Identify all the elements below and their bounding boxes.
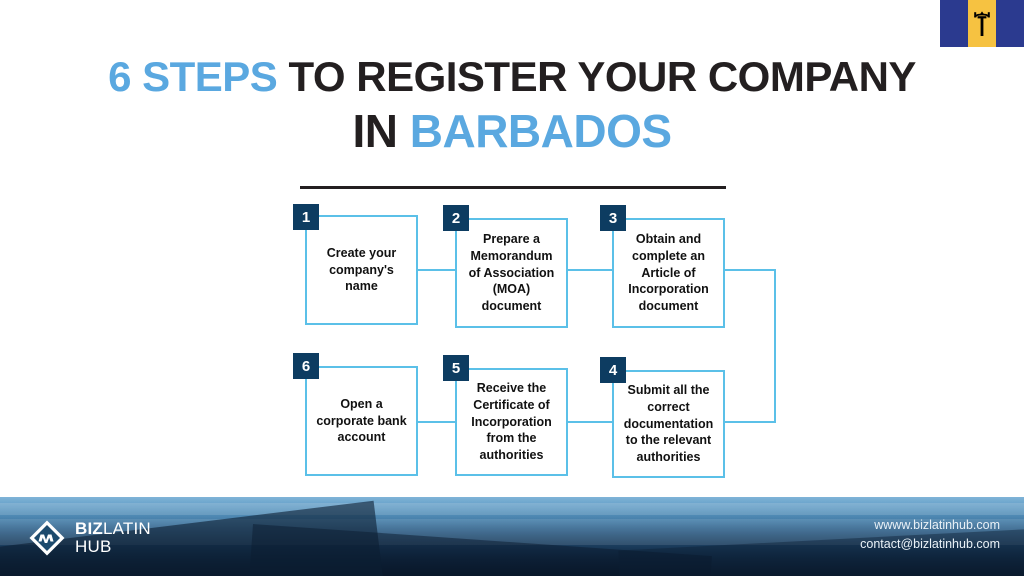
step-box-3[interactable]: Obtain and complete an Article of Incorp… — [612, 218, 725, 328]
step-text-4: Submit all the correct documentation to … — [624, 382, 714, 465]
logo-line-1: BIZLATIN — [75, 520, 151, 538]
step-text-1: Create your company's name — [327, 245, 396, 295]
step-box-2[interactable]: Prepare a Memorandum of Association (MOA… — [455, 218, 568, 328]
step-box-5[interactable]: Receive the Certificate of Incorporation… — [455, 368, 568, 476]
step-badge-6: 6 — [293, 353, 319, 379]
step-text-5: Receive the Certificate of Incorporation… — [471, 380, 552, 463]
step-box-4[interactable]: Submit all the correct documentation to … — [612, 370, 725, 478]
step-box-6[interactable]: Open a corporate bank account — [305, 366, 418, 476]
footer-contact-info: wwww.bizlatinhub.com contact@bizlatinhub… — [860, 516, 1000, 555]
connector-step1-step2 — [418, 269, 455, 271]
step-text-6: Open a corporate bank account — [316, 396, 406, 446]
connector-step5-step6 — [418, 421, 455, 423]
flag-band-right — [996, 0, 1024, 47]
logo-hub: HUB — [75, 538, 151, 556]
page-title: 6 STEPS TO REGISTER YOUR COMPANY IN BARB… — [0, 56, 1024, 154]
logo-latin: LATIN — [103, 519, 151, 538]
connector-step4-step5 — [568, 421, 612, 423]
bizlatinhub-logo-icon — [28, 519, 66, 557]
flag-band-center — [968, 0, 996, 47]
title-divider — [300, 186, 726, 189]
slide-canvas: 6 STEPS TO REGISTER YOUR COMPANY IN BARB… — [0, 0, 1024, 576]
connector-right-step4 — [725, 421, 776, 423]
step-box-1[interactable]: Create your company's name — [305, 215, 418, 325]
title-accent-steps: 6 STEPS — [108, 53, 277, 100]
step-text-2: Prepare a Memorandum of Association (MOA… — [469, 231, 555, 314]
title-line-1: 6 STEPS TO REGISTER YOUR COMPANY — [0, 56, 1024, 98]
connector-step2-step3 — [568, 269, 612, 271]
logo-biz: BIZ — [75, 519, 103, 538]
title-line-2: IN BARBADOS — [0, 108, 1024, 154]
step-badge-3: 3 — [600, 205, 626, 231]
footer-email[interactable]: contact@bizlatinhub.com — [860, 535, 1000, 554]
footer-website[interactable]: wwww.bizlatinhub.com — [860, 516, 1000, 535]
title-accent-country: BARBADOS — [410, 105, 672, 157]
step-badge-2: 2 — [443, 205, 469, 231]
title-rest-2: IN — [352, 105, 409, 157]
flag-band-left — [940, 0, 968, 47]
step-badge-4: 4 — [600, 357, 626, 383]
connector-step3-right — [725, 269, 776, 271]
trident-icon — [972, 11, 992, 37]
step-badge-1: 1 — [293, 204, 319, 230]
bizlatinhub-logo[interactable]: BIZLATIN HUB — [28, 519, 151, 557]
step-badge-5: 5 — [443, 355, 469, 381]
barbados-flag-icon — [940, 0, 1024, 47]
title-rest-1: TO REGISTER YOUR COMPANY — [277, 53, 916, 100]
footer-haze-upper — [0, 503, 1024, 515]
step-text-3: Obtain and complete an Article of Incorp… — [628, 231, 709, 314]
bizlatinhub-logo-text: BIZLATIN HUB — [75, 520, 151, 556]
connector-right-vertical — [774, 269, 776, 423]
